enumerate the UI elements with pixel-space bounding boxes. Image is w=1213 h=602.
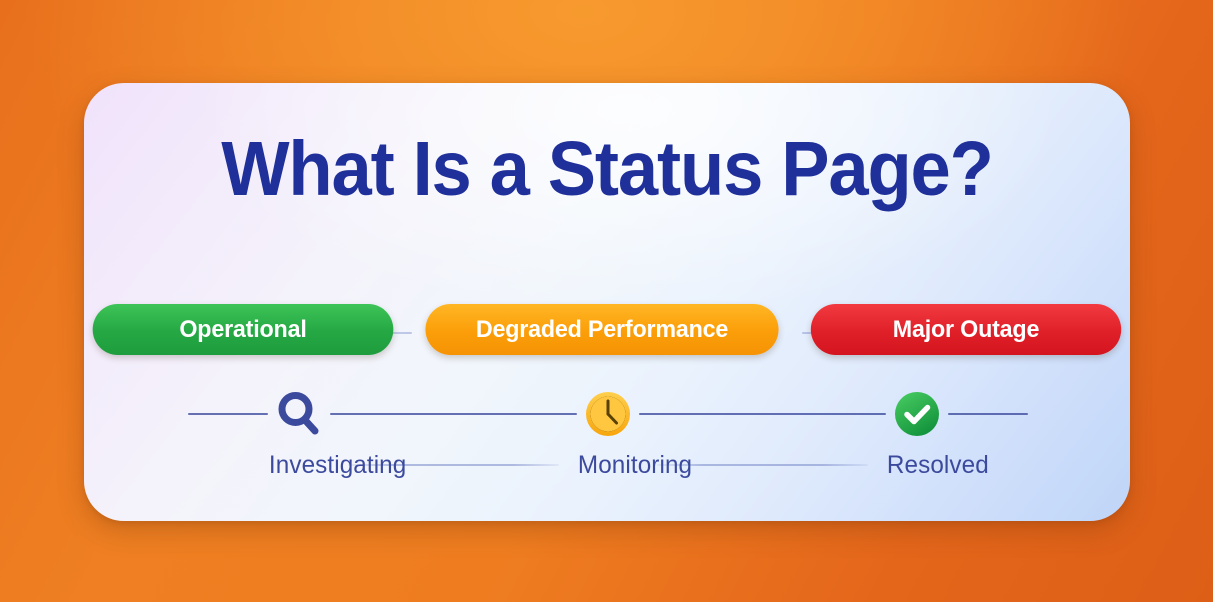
status-pill-degraded-performance-label: Degraded Performance: [476, 316, 728, 344]
status-pill-degraded-performance[interactable]: Degraded Performance: [425, 304, 778, 355]
timeline-label-monitoring: Monitoring: [578, 451, 638, 480]
page-title: What Is a Status Page?: [115, 131, 1098, 208]
status-page-card: What Is a Status Page? 2026 Practical Gu…: [84, 83, 1130, 521]
clock-icon: [584, 390, 632, 438]
timeline-step-resolved[interactable]: [886, 383, 948, 445]
poster-background: What Is a Status Page? 2026 Practical Gu…: [0, 0, 1213, 602]
timeline-step-monitoring[interactable]: [577, 383, 639, 445]
timeline-label-investigating: Investigating: [269, 451, 329, 480]
timeline-label-row: Investigating Monitoring Resolved: [188, 445, 1028, 485]
timeline-track-end: [948, 413, 1028, 415]
status-pill-operational-label: Operational: [179, 316, 306, 344]
status-pill-group: Operational Degraded Performance Major O…: [84, 304, 1130, 355]
status-pill-operational[interactable]: Operational: [93, 304, 394, 355]
status-pill-major-outage-label: Major Outage: [893, 316, 1039, 344]
timeline-track-1: [330, 413, 577, 415]
timeline-track-start: [188, 413, 268, 415]
timeline-track-2: [639, 413, 886, 415]
status-pill-major-outage[interactable]: Major Outage: [811, 304, 1121, 355]
timeline-icon-row: [188, 383, 1028, 445]
timeline-step-investigating[interactable]: [268, 383, 330, 445]
magnifier-icon: [271, 386, 327, 442]
check-circle-icon: [893, 390, 941, 438]
incident-timeline: Investigating Monitoring Resolved: [84, 383, 1130, 493]
timeline-label-resolved: Resolved: [887, 451, 947, 480]
